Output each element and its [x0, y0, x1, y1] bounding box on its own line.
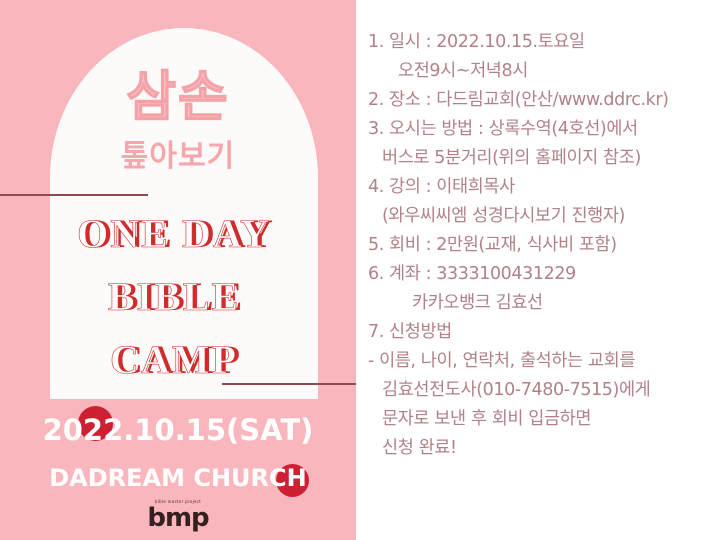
info-line: 3. 오시는 방법 : 상록수역(4호선)에서 — [368, 115, 714, 144]
info-line: 신청 완료! — [368, 434, 714, 463]
headline-line-one-day-shadow: ONE DAY — [0, 214, 352, 254]
poster-title-korean: 삼손 — [0, 70, 356, 124]
poster-subtitle-korean: 톺아보기 — [0, 142, 356, 172]
bmp-logo: bible master project bmp — [0, 500, 356, 531]
headline-line-camp: CAMP CAMP — [0, 340, 356, 380]
headline-line-one-day: ONE DAY ONE DAY — [0, 214, 356, 254]
decorative-rule-right — [222, 383, 356, 385]
bmp-logo-mark: bmp — [0, 505, 356, 531]
info-line: 6. 계좌 : 3333100431229 — [368, 260, 714, 289]
poster-date: 2022.10.15(SAT) — [0, 413, 356, 447]
info-line: - 이름, 나이, 연락처, 출석하는 교회를 — [368, 347, 714, 376]
event-details-panel: 1. 일시 : 2022.10.15.토요일오전9시~저녁8시2. 장소 : 다… — [356, 0, 720, 540]
headline-line-camp-shadow: CAMP — [0, 340, 352, 380]
info-line: 문자로 보낸 후 회비 입금하면 — [368, 405, 714, 434]
info-line: 버스로 5분거리(위의 홈페이지 참조) — [368, 144, 714, 173]
decorative-rule-left — [0, 194, 148, 196]
poster-image: 삼손 톺아보기 ONE DAY ONE DAY BIBLE BIBLE CAMP… — [0, 0, 720, 540]
info-line: 1. 일시 : 2022.10.15.토요일 — [368, 28, 714, 57]
event-poster-panel: 삼손 톺아보기 ONE DAY ONE DAY BIBLE BIBLE CAMP… — [0, 0, 356, 540]
info-line: 카카오뱅크 김효선 — [368, 289, 714, 318]
headline-line-bible: BIBLE BIBLE — [0, 277, 356, 317]
info-line: 7. 신청방법 — [368, 318, 714, 347]
info-line: 김효선전도사(010-7480-7515)에게 — [368, 376, 714, 405]
info-line: 오전9시~저녁8시 — [368, 57, 714, 86]
info-line: (와우씨씨엠 성경다시보기 진행자) — [368, 202, 714, 231]
info-line: 2. 장소 : 다드림교회(안산/www.ddrc.kr) — [368, 86, 714, 115]
headline-line-bible-shadow: BIBLE — [0, 277, 352, 317]
info-line: 5. 회비 : 2만원(교재, 식사비 포함) — [368, 231, 714, 260]
info-line: 4. 강의 : 이태희목사 — [368, 173, 714, 202]
poster-church-name: DADREAM CHURCH — [0, 464, 356, 492]
